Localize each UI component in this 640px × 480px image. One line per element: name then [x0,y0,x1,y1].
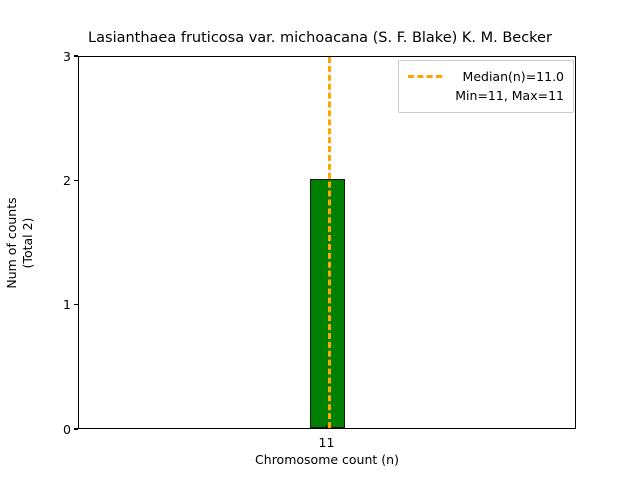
y-tick-label: 0 [63,421,71,438]
y-tick-label: 2 [63,172,71,189]
y-tick-label: 3 [63,48,71,65]
x-tick-label: 11 [319,434,335,451]
y-tick-mark [74,180,78,181]
legend-label-median: Median(n)=11.0 [451,67,564,86]
y-tick-mark [74,428,78,429]
page-title: Lasianthaea fruticosa var. michoacana (S… [0,29,640,47]
y-axis-label-inner: Num of counts (Total 2) [4,197,36,288]
dashed-line-icon [408,75,442,78]
y-axis-label-line1: Num of counts [4,197,20,288]
y-tick-mark [74,55,78,56]
y-axis-label-line2: (Total 2) [20,197,36,288]
legend-entry-median: Median(n)=11.0 [408,67,564,86]
legend-label-minmax: Min=11, Max=11 [451,86,564,105]
y-tick-mark [74,304,78,305]
legend-entry-minmax: Min=11, Max=11 [408,86,564,105]
legend: Median(n)=11.0 Min=11, Max=11 [398,60,574,113]
y-tick-label: 1 [63,296,71,313]
chart-figure: Lasianthaea fruticosa var. michoacana (S… [0,0,640,480]
median-line [328,57,331,428]
y-axis-label: Num of counts (Total 2) [0,56,40,429]
x-tick-mark [326,425,327,429]
x-axis-label: Chromosome count (n) [78,452,576,468]
